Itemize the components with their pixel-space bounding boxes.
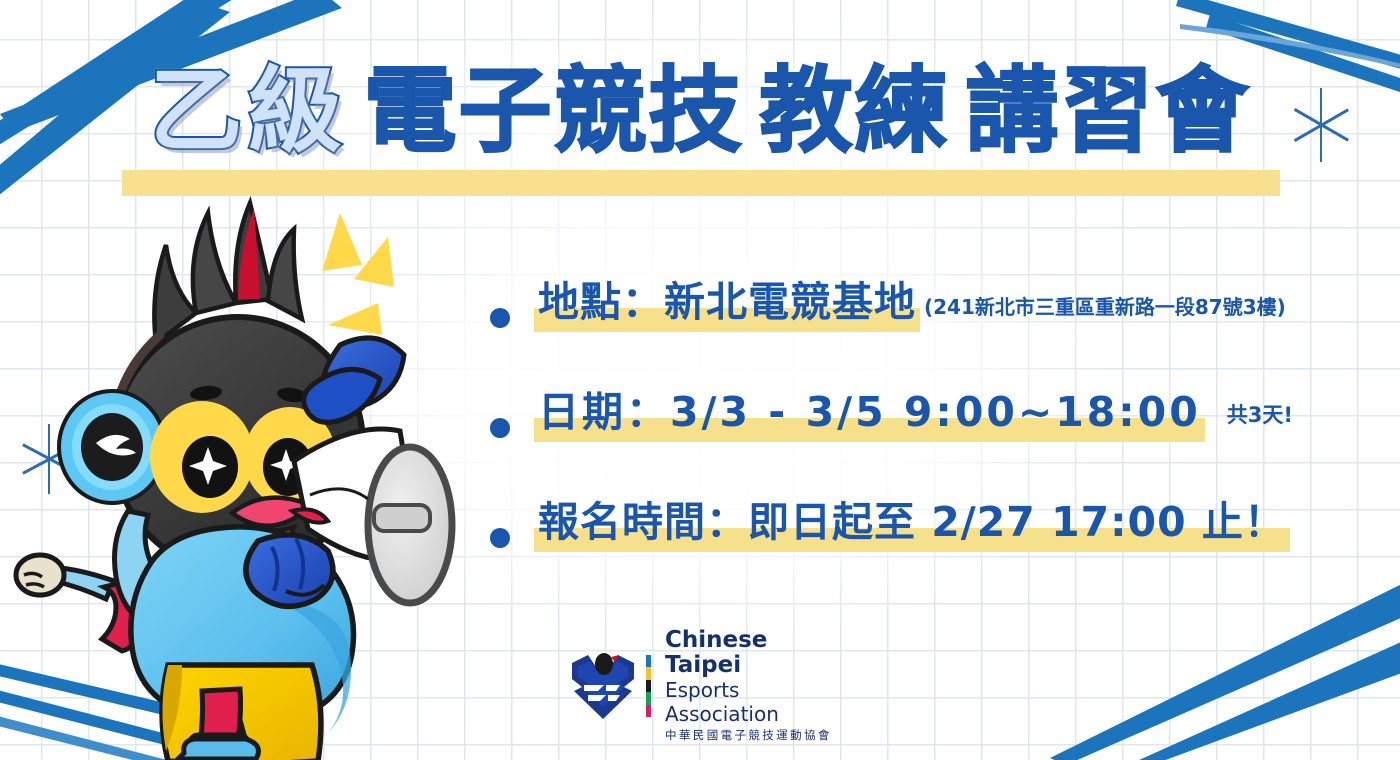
date-body: 日期：3/3 - 3/5 9:00~18:00共3天! <box>534 382 1293 442</box>
bullet-dot-icon <box>490 308 510 328</box>
location-body: 地點：新北電競基地(241新北市三重區重新路一段87號3樓) <box>534 272 1286 332</box>
organization-logo: Chinese Taipei Esports Association 中華民國電… <box>566 645 846 727</box>
logo-wordmark: Chinese Taipei Esports Association 中華民國電… <box>665 628 846 744</box>
bullet-dot-icon <box>490 528 510 548</box>
poster-canvas: 乙級電子競技教練講習會 <box>0 0 1400 760</box>
list-item-registration: 報名時間：即日起至 2/27 17:00 止！ <box>490 492 1380 602</box>
registration-label: 報名時間：即日起至 2/27 17:00 止！ <box>534 492 1290 552</box>
cte-eagle-shield-icon <box>566 649 640 723</box>
registration-body: 報名時間：即日起至 2/27 17:00 止！ <box>534 492 1290 552</box>
logo-line-3: 中華民國電子競技運動協會 <box>665 726 846 744</box>
headphone-icon <box>59 391 165 503</box>
logo-line-2: Esports Association <box>665 678 846 726</box>
date-duration-note: 共3天! <box>1227 399 1293 429</box>
logo-color-bar <box>646 655 651 717</box>
title-event: 講習會 <box>966 57 1251 165</box>
esports-bird-mascot <box>10 195 460 760</box>
detail-list: 地點：新北電競基地(241新北市三重區重新路一段87號3樓) 日期：3/3 - … <box>490 272 1380 602</box>
sound-ray-icons <box>322 213 394 335</box>
location-label: 地點：新北電競基地 <box>534 272 920 332</box>
poster-title: 乙級電子競技教練講習會 <box>0 52 1400 202</box>
title-text-line: 乙級電子競技教練講習會 <box>0 52 1400 170</box>
bullet-dot-icon <box>490 418 510 438</box>
title-role: 教練 <box>760 57 950 165</box>
title-highlight-band <box>122 170 1280 196</box>
date-label: 日期：3/3 - 3/5 9:00~18:00 <box>534 382 1205 442</box>
title-grade: 乙級 <box>150 57 348 165</box>
list-item-location: 地點：新北電競基地(241新北市三重區重新路一段87號3樓) <box>490 272 1380 382</box>
location-address: (241新北市三重區重新路一段87號3樓) <box>924 291 1286 320</box>
logo-line-1: Chinese Taipei <box>665 628 846 678</box>
list-item-date: 日期：3/3 - 3/5 9:00~18:00共3天! <box>490 382 1380 492</box>
title-subject: 電子競技 <box>364 57 744 165</box>
